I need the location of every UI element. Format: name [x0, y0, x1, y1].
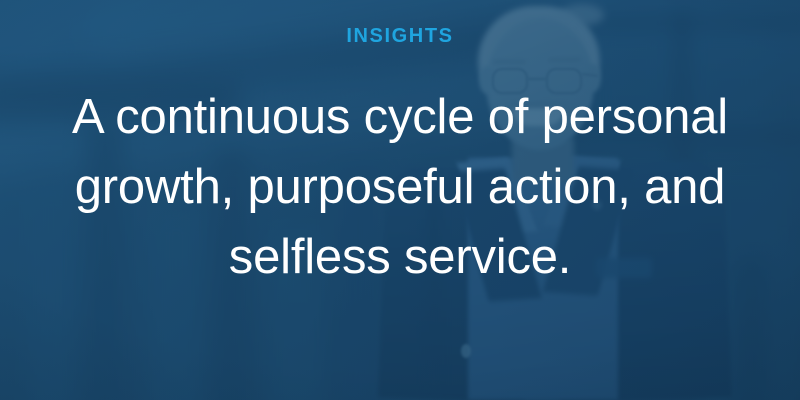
banner-content: INSIGHTS A continuous cycle of personal …	[0, 0, 800, 400]
eyebrow-label: INSIGHTS	[346, 26, 453, 46]
headline-quote: A continuous cycle of personal growth, p…	[50, 82, 750, 292]
insights-banner: INSIGHTS A continuous cycle of personal …	[0, 0, 800, 400]
